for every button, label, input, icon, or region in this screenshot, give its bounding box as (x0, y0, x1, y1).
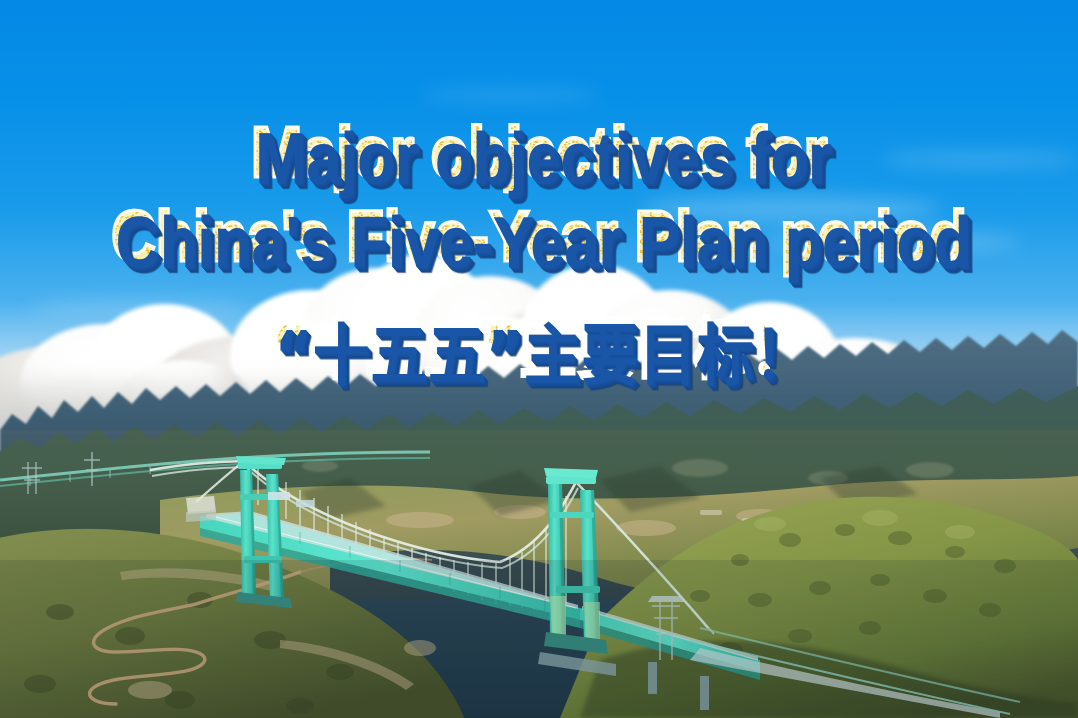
landscape-photo (0, 0, 1078, 718)
title-card: Major objectives for China's Five-Year P… (0, 0, 1078, 718)
